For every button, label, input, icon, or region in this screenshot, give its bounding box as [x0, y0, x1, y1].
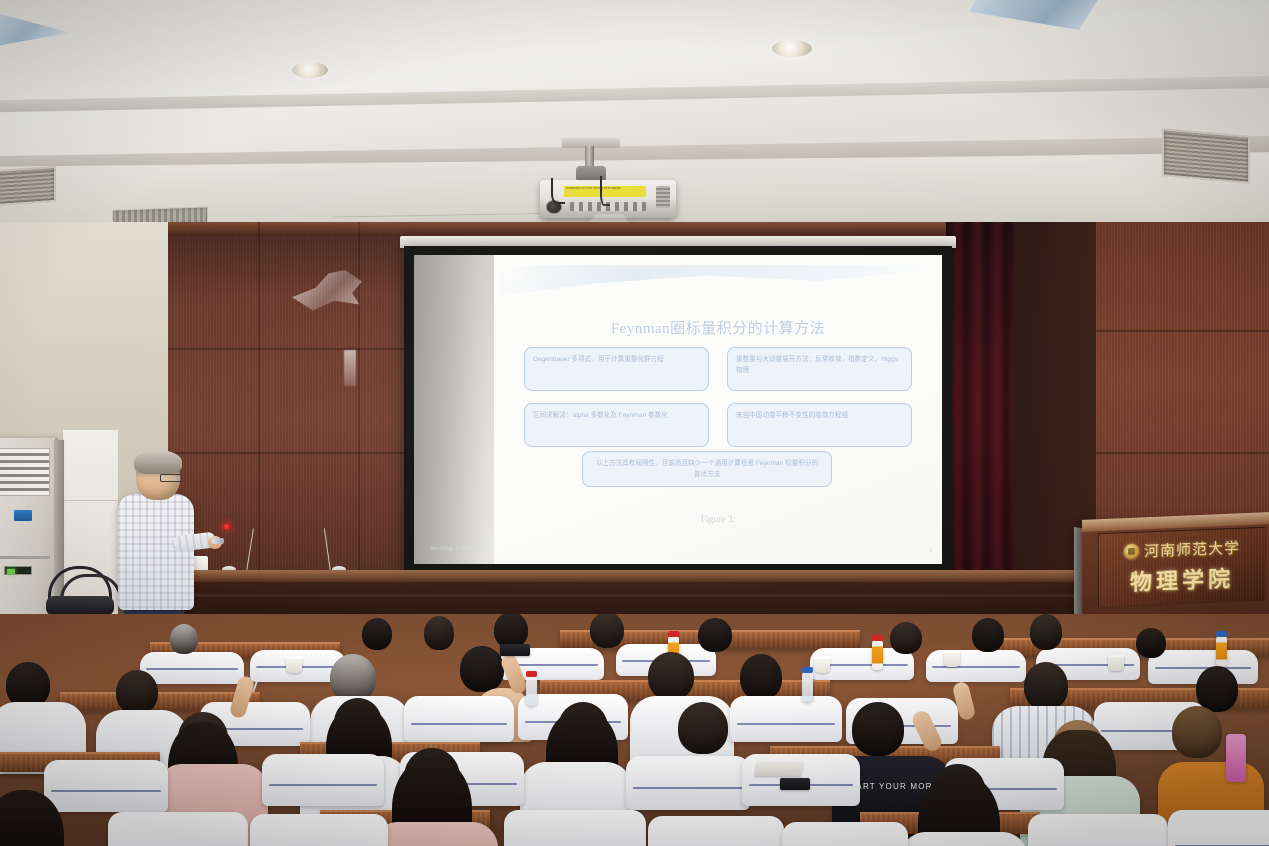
slide-footer: Jin-Xing, 5/2021	[430, 546, 475, 552]
audience-head	[1030, 614, 1062, 650]
laser-pointer-icon[interactable]	[212, 538, 224, 544]
slide-header-decoration	[500, 265, 930, 309]
slide-box: 区间求解法：alpha 多数化及 Feynman 参数化	[524, 403, 709, 447]
eyeglasses-icon	[160, 474, 182, 482]
audience-head	[698, 618, 732, 652]
smartphone[interactable]	[780, 778, 810, 790]
orange-juice-bottle[interactable]	[1216, 636, 1227, 666]
recessed-downlight-icon	[772, 40, 812, 57]
audience-head	[1024, 662, 1068, 710]
paper-cup[interactable]	[286, 656, 302, 673]
audience-head	[116, 670, 158, 714]
paper-cup[interactable]	[1108, 654, 1124, 671]
university-name: 河南师范大学	[1144, 537, 1240, 562]
slide-title: Feynman圈标量积分的计算方法	[494, 317, 942, 338]
chair-cover[interactable]	[250, 814, 388, 846]
wood-panel-seam	[1096, 452, 1269, 454]
chair-cover[interactable]	[140, 652, 244, 684]
audience-head	[424, 616, 454, 650]
audience-head	[460, 646, 504, 692]
presenter-hair	[134, 450, 182, 474]
smartphone[interactable]	[500, 644, 530, 656]
cabinet-seam	[62, 500, 118, 501]
hvac-vent-icon	[0, 166, 56, 206]
slide-bullet-grid: Gegenbauer 多项式，用于计算重整化群方程 重整量与大动量展开方法：反常…	[524, 347, 912, 447]
chair-cover[interactable]	[730, 696, 842, 742]
projection-screen: Feynman圈标量积分的计算方法 Gegenbauer 多项式，用于计算重整化…	[404, 246, 952, 576]
presenter-plaid-shirt	[118, 494, 194, 610]
ceiling-beam	[0, 76, 1269, 112]
university-crest-icon	[1124, 544, 1139, 560]
ac-louver-vent-icon	[0, 448, 50, 496]
stage-table-highlight	[168, 594, 1078, 597]
slide-page-number: 6	[929, 548, 932, 554]
wood-panel-seam	[1096, 330, 1269, 332]
chair-cover[interactable]	[404, 696, 514, 742]
ac-brand-label	[14, 510, 32, 521]
slide-box: Gegenbauer 多项式，用于计算重整化群方程	[524, 347, 709, 391]
audience-head	[170, 624, 198, 654]
projected-slide: Feynman圈标量积分的计算方法 Gegenbauer 多项式，用于计算重整化…	[494, 255, 942, 564]
bottle-cap	[526, 671, 537, 677]
notebook[interactable]	[755, 762, 804, 776]
chair-cover[interactable]	[44, 760, 168, 812]
department-name: 物理学院	[1130, 561, 1234, 597]
bottle-cap	[802, 667, 813, 673]
audience-head	[1136, 628, 1166, 658]
audience-seating-area: START YOUR MORN	[0, 614, 1269, 846]
podium-nameplate: 河南师范大学 物理学院	[1098, 527, 1266, 607]
audience-head	[330, 654, 376, 702]
hvac-vent-icon	[1162, 128, 1250, 184]
audience-head	[740, 654, 782, 700]
recessed-downlight-icon	[292, 62, 328, 78]
projector-cable	[551, 178, 565, 204]
chair-seat	[46, 596, 114, 616]
laser-pointer-dot	[224, 524, 229, 529]
chair-cover[interactable]	[782, 822, 908, 846]
audience-head	[648, 652, 694, 700]
audience-head	[494, 614, 528, 648]
audience-head	[852, 702, 904, 756]
pink-water-bottle[interactable]	[1226, 734, 1246, 782]
chair-cover[interactable]	[504, 810, 646, 846]
ceiling-light-fixture-icon	[0, 8, 70, 48]
audience-head	[590, 614, 624, 648]
audience-head	[678, 702, 728, 754]
audience-head	[972, 618, 1004, 652]
screen-surface: Feynman圈标量积分的计算方法 Gegenbauer 多项式，用于计算重整化…	[414, 255, 942, 564]
chair-cover[interactable]	[262, 754, 384, 806]
water-bottle[interactable]	[526, 676, 537, 706]
audience-head	[890, 622, 922, 654]
projector-exhaust-vent-icon	[656, 186, 670, 208]
audience-head	[362, 618, 392, 650]
lecture-hall-photo: WARNING DO NOT STARE INTO BEAM Feynman圈标…	[0, 0, 1269, 846]
audience-head	[1172, 706, 1222, 758]
projector-cable	[600, 176, 610, 206]
bottle-cap	[668, 631, 679, 637]
bottle-cap	[872, 635, 883, 641]
bottle-cap	[1216, 631, 1227, 637]
chair-cover[interactable]	[1168, 810, 1269, 846]
paper-cup[interactable]	[814, 656, 830, 673]
slide-summary-box: 以上方法具有局限性，目前尚且缺少一个通用计算任意 Feynman 标量积分的普适…	[582, 451, 832, 487]
slide-box: 重整量与大动量展开方法：反常收敛，指数定义，Higgs 物理	[727, 347, 912, 391]
chair-cover[interactable]	[108, 812, 248, 846]
chair-cover[interactable]	[1028, 814, 1168, 846]
ceiling-light-fixture-icon	[970, 0, 1100, 30]
paper-cup[interactable]	[944, 650, 960, 667]
audience-torso	[900, 832, 1028, 846]
ac-display-panel[interactable]	[4, 566, 32, 575]
audience-torso	[372, 822, 498, 846]
water-bottle[interactable]	[802, 672, 813, 702]
audience-head	[1196, 666, 1238, 712]
chair-cover[interactable]	[626, 756, 750, 810]
chair-cover[interactable]	[648, 816, 784, 846]
wall-tape-residue	[344, 350, 356, 386]
chair-cover[interactable]	[926, 650, 1026, 682]
wood-panel-seam	[258, 222, 260, 622]
stage-curtain	[946, 222, 1016, 622]
slide-figure-caption: Figure 3:	[494, 515, 942, 525]
slide-box: 来自中国动量平移不变性的收敛方程组	[727, 403, 912, 447]
orange-juice-bottle[interactable]	[872, 640, 883, 670]
